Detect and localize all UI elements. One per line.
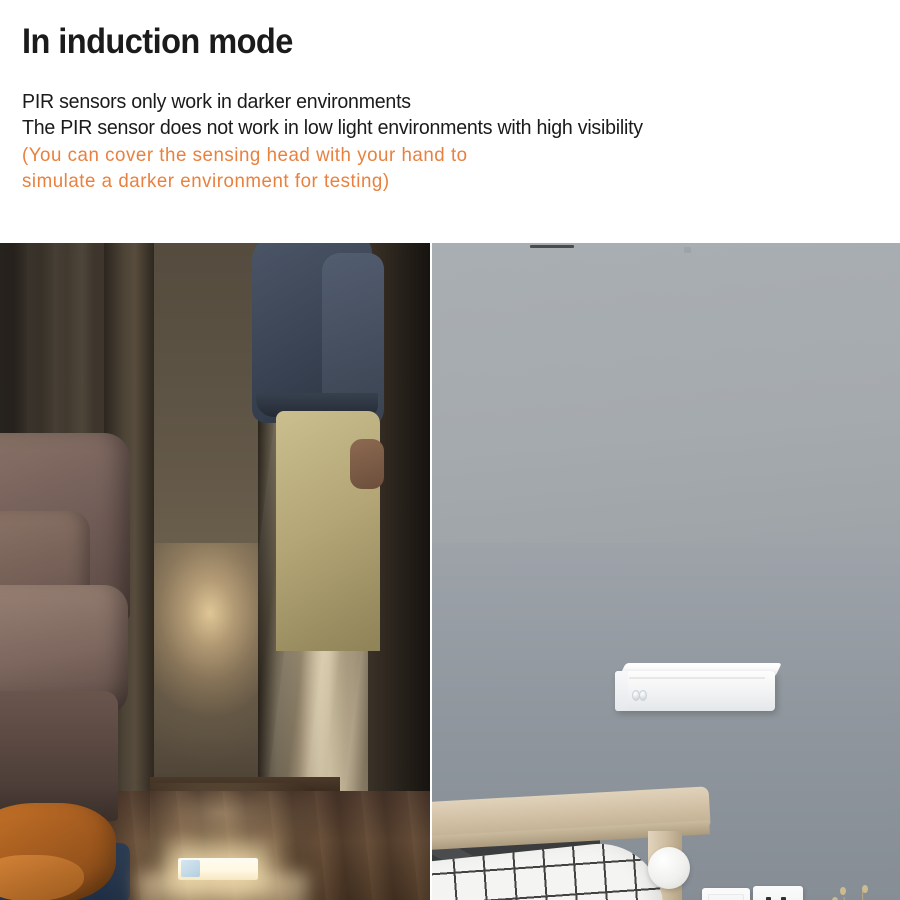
wall-power-socket[interactable] — [753, 886, 803, 900]
pir-sensor-icon — [632, 690, 648, 703]
led-bar-end-cap — [615, 671, 628, 711]
led-bar-seam — [629, 677, 765, 679]
description-block: PIR sensors only work in darker environm… — [22, 89, 880, 194]
dried-flower-stems — [828, 883, 900, 900]
pillow-pompom — [648, 847, 690, 889]
photo-divider — [430, 243, 432, 900]
description-line-1: PIR sensors only work in darker environm… — [22, 89, 841, 115]
sofa-base — [0, 691, 118, 821]
ceiling-spot-mark — [684, 247, 691, 253]
comparison-photo-row: PIR sensors only sense in darker environ… — [0, 243, 900, 900]
pir-sensor-icon — [181, 860, 200, 877]
ceiling-trim-mark — [530, 245, 574, 248]
header-text-block: In induction mode PIR sensors only work … — [0, 0, 900, 243]
led-bar-unlit — [615, 663, 775, 711]
person-hand — [350, 439, 384, 489]
photo-dark-room: PIR sensors only sense in darker environ… — [0, 243, 430, 900]
wall-light-switch[interactable] — [702, 888, 750, 900]
description-line-2: The PIR sensor does not work in low ligh… — [22, 115, 841, 141]
page-title: In induction mode — [22, 22, 820, 61]
note-line-2: simulate a darker environment for testin… — [22, 168, 846, 194]
note-line-1: (You can cover the sensing head with you… — [22, 142, 846, 168]
golden-dog — [0, 803, 116, 900]
photo-bright-room: In low light environments, visibility is… — [430, 243, 900, 900]
